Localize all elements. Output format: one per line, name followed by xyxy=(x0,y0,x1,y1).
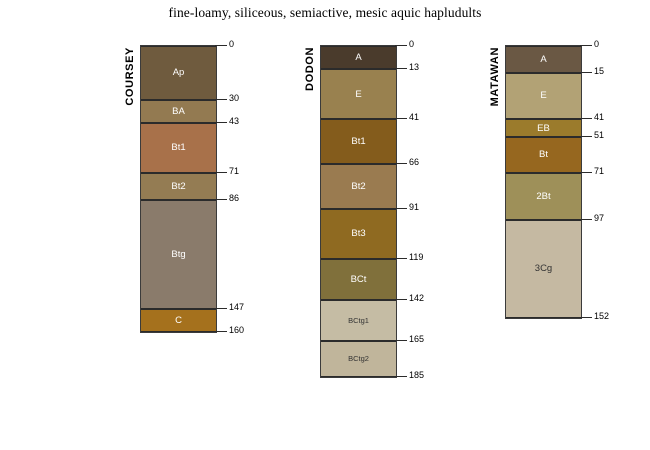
depth-tick xyxy=(580,317,592,318)
depth-tick xyxy=(215,199,227,200)
depth-tick xyxy=(215,172,227,173)
depth-tick-label: 86 xyxy=(229,193,239,203)
horizon-label: Bt1 xyxy=(351,137,365,147)
depth-tick xyxy=(395,340,407,341)
depth-tick xyxy=(395,258,407,259)
depth-tick-label: 0 xyxy=(594,39,599,49)
depth-tick-label: 41 xyxy=(409,112,419,122)
depth-tick-label: 66 xyxy=(409,157,419,167)
horizon-label: 2Bt xyxy=(536,192,550,202)
depth-tick xyxy=(580,219,592,220)
depth-tick-label: 51 xyxy=(594,130,604,140)
soil-profile-figure: fine-loamy, siliceous, semiactive, mesic… xyxy=(0,0,650,450)
soil-horizon[interactable]: Bt2 xyxy=(321,164,396,209)
depth-tick xyxy=(580,72,592,73)
depth-tick-label: 142 xyxy=(409,293,424,303)
depth-tick-label: 147 xyxy=(229,302,244,312)
soil-horizon[interactable]: 2Bt xyxy=(506,173,581,220)
soil-horizon[interactable]: A xyxy=(506,46,581,73)
horizon-label: Bt xyxy=(539,150,548,160)
depth-tick xyxy=(580,45,592,46)
horizon-label: BCtg2 xyxy=(348,355,369,363)
horizon-label: A xyxy=(540,55,546,65)
soil-horizon[interactable]: Btg xyxy=(141,200,216,309)
depth-tick xyxy=(215,122,227,123)
depth-tick xyxy=(215,99,227,100)
depth-tick xyxy=(215,331,227,332)
depth-tick-label: 185 xyxy=(409,370,424,380)
profile-column: ApBABt1Bt2BtgC xyxy=(140,45,217,333)
profile-column: AEEBBt2Bt3Cg xyxy=(505,45,582,319)
horizon-label: BA xyxy=(172,107,185,117)
horizon-label: Ap xyxy=(173,68,185,78)
depth-tick-label: 43 xyxy=(229,116,239,126)
soil-horizon[interactable]: Bt1 xyxy=(321,119,396,164)
depth-tick-label: 41 xyxy=(594,112,604,122)
soil-horizon[interactable]: C xyxy=(141,309,216,332)
horizon-label: E xyxy=(355,90,361,100)
horizon-label: Bt3 xyxy=(351,229,365,239)
profile-name-label: COURSEY xyxy=(124,47,136,106)
profile-name-label: DODON xyxy=(304,47,316,91)
soil-horizon[interactable]: Bt xyxy=(506,137,581,173)
soil-horizon[interactable]: BCtg1 xyxy=(321,300,396,341)
depth-tick xyxy=(395,45,407,46)
horizon-label: BCt xyxy=(351,275,367,285)
depth-tick xyxy=(395,376,407,377)
horizon-label: C xyxy=(175,316,182,326)
soil-horizon[interactable]: BA xyxy=(141,100,216,123)
depth-tick-label: 13 xyxy=(409,62,419,72)
depth-tick xyxy=(395,208,407,209)
soil-horizon[interactable]: Bt2 xyxy=(141,173,216,200)
soil-horizon[interactable]: Bt1 xyxy=(141,123,216,173)
horizon-label: Bt2 xyxy=(171,182,185,192)
horizon-label: Bt2 xyxy=(351,182,365,192)
soil-horizon[interactable]: 3Cg xyxy=(506,220,581,318)
depth-tick-label: 30 xyxy=(229,93,239,103)
profile-name-label: MATAWAN xyxy=(489,47,501,106)
horizon-label: BCtg1 xyxy=(348,317,369,325)
horizon-label: E xyxy=(540,91,546,101)
depth-tick xyxy=(580,136,592,137)
depth-tick-label: 0 xyxy=(409,39,414,49)
soil-horizon[interactable]: EB xyxy=(506,119,581,137)
depth-tick xyxy=(395,118,407,119)
depth-tick xyxy=(395,68,407,69)
horizon-label: Bt1 xyxy=(171,143,185,153)
depth-tick xyxy=(215,45,227,46)
profile-column: AEBt1Bt2Bt3BCtBCtg1BCtg2 xyxy=(320,45,397,378)
depth-tick-label: 71 xyxy=(229,166,239,176)
soil-horizon[interactable]: Bt3 xyxy=(321,209,396,259)
soil-horizon[interactable]: BCtg2 xyxy=(321,341,396,377)
horizon-label: EB xyxy=(537,124,550,134)
horizon-label: Btg xyxy=(171,250,185,260)
depth-tick xyxy=(395,163,407,164)
depth-tick xyxy=(215,308,227,309)
depth-tick-label: 97 xyxy=(594,213,604,223)
depth-tick-label: 15 xyxy=(594,66,604,76)
soil-horizon[interactable]: A xyxy=(321,46,396,69)
soil-horizon[interactable]: E xyxy=(506,73,581,120)
depth-tick xyxy=(580,118,592,119)
soil-horizon[interactable]: Ap xyxy=(141,46,216,100)
page-title: fine-loamy, siliceous, semiactive, mesic… xyxy=(0,5,650,21)
soil-horizon[interactable]: E xyxy=(321,69,396,119)
depth-tick-label: 160 xyxy=(229,325,244,335)
depth-tick-label: 152 xyxy=(594,311,609,321)
depth-tick xyxy=(580,172,592,173)
depth-tick-label: 119 xyxy=(409,252,423,262)
depth-tick xyxy=(395,299,407,300)
depth-tick-label: 91 xyxy=(409,202,419,212)
depth-tick-label: 71 xyxy=(594,166,604,176)
depth-tick-label: 165 xyxy=(409,334,424,344)
depth-tick-label: 0 xyxy=(229,39,234,49)
soil-horizon[interactable]: BCt xyxy=(321,259,396,300)
horizon-label: A xyxy=(355,53,361,63)
horizon-label: 3Cg xyxy=(535,264,552,274)
